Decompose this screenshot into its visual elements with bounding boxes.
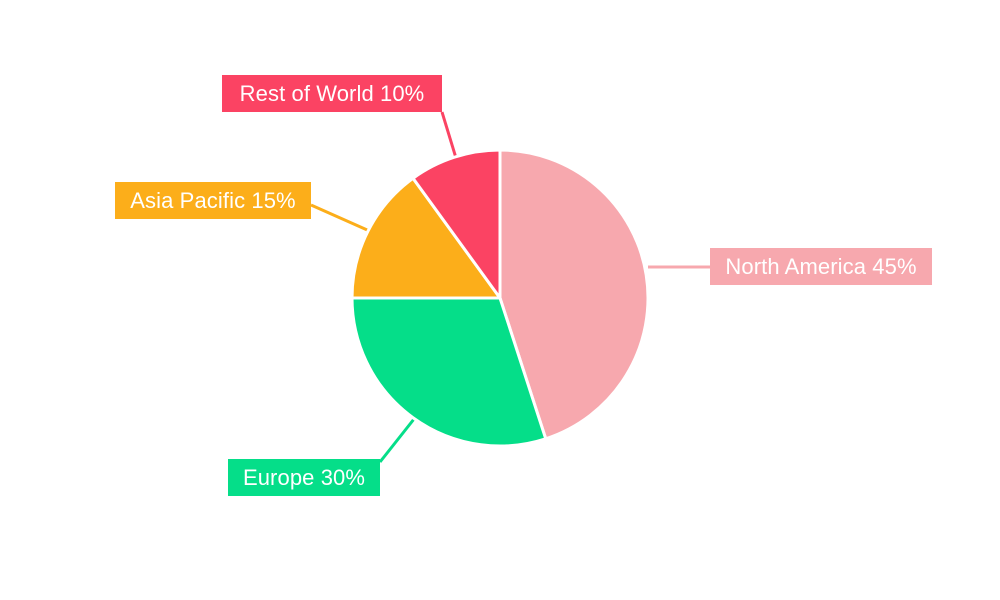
leader-line-europe [380,419,414,462]
pie-label-text-north-america: North America 45% [725,256,916,278]
pie-label-rest-of-world[interactable]: Rest of World 10% [222,75,442,112]
pie-label-text-asia-pacific: Asia Pacific 15% [130,190,295,212]
pie-slices-group [352,150,648,446]
pie-chart-figure: Rest of World 10% Asia Pacific 15% North… [0,0,1000,600]
leader-line-asia-pacific [311,205,374,233]
pie-label-text-rest-of-world: Rest of World 10% [240,83,425,105]
pie-label-north-america[interactable]: North America 45% [710,248,932,285]
pie-label-europe[interactable]: Europe 30% [228,459,380,496]
pie-chart-canvas [0,0,1000,600]
pie-label-asia-pacific[interactable]: Asia Pacific 15% [115,182,311,219]
leader-line-rest-of-world [442,112,456,158]
pie-label-text-europe: Europe 30% [243,467,365,489]
